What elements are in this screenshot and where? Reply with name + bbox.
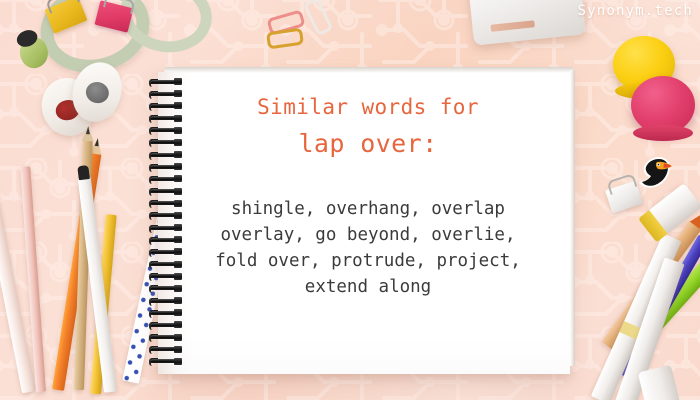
screenshot-stage: Similar words for lap over: shingle, ove… [0, 0, 700, 400]
spiral-coil [149, 309, 183, 316]
spiral-coil [149, 334, 183, 341]
synonym-list: shingle, overhang, overlapoverlay, go be… [178, 196, 558, 300]
spiral-coil [149, 358, 183, 365]
spiral-coil [149, 115, 183, 122]
synonym-line: extend along [178, 274, 558, 300]
spiral-coil [149, 127, 183, 134]
spiral-coil [149, 163, 183, 170]
synonym-line: shingle, overhang, overlap [178, 196, 558, 222]
query-word: lap over: [190, 129, 546, 158]
spiral-coil [149, 78, 183, 85]
spiral-coil [149, 139, 183, 146]
spiral-coil [149, 175, 183, 182]
spiral-coil [149, 151, 183, 158]
synonym-line: overlay, go beyond, overlie, [178, 222, 558, 248]
spiral-coil [149, 346, 183, 353]
spiral-coil [149, 102, 183, 109]
spiral-coil [149, 188, 183, 195]
macaron-pink [631, 76, 695, 134]
page-title: Similar words for [190, 95, 546, 119]
camera-grip [490, 20, 534, 32]
spiral-coil [149, 90, 183, 97]
spiral-coil [149, 321, 183, 328]
site-logo[interactable]: Synonym.tech [577, 3, 693, 19]
synonym-line: fold over, protrude, project, [178, 248, 558, 274]
